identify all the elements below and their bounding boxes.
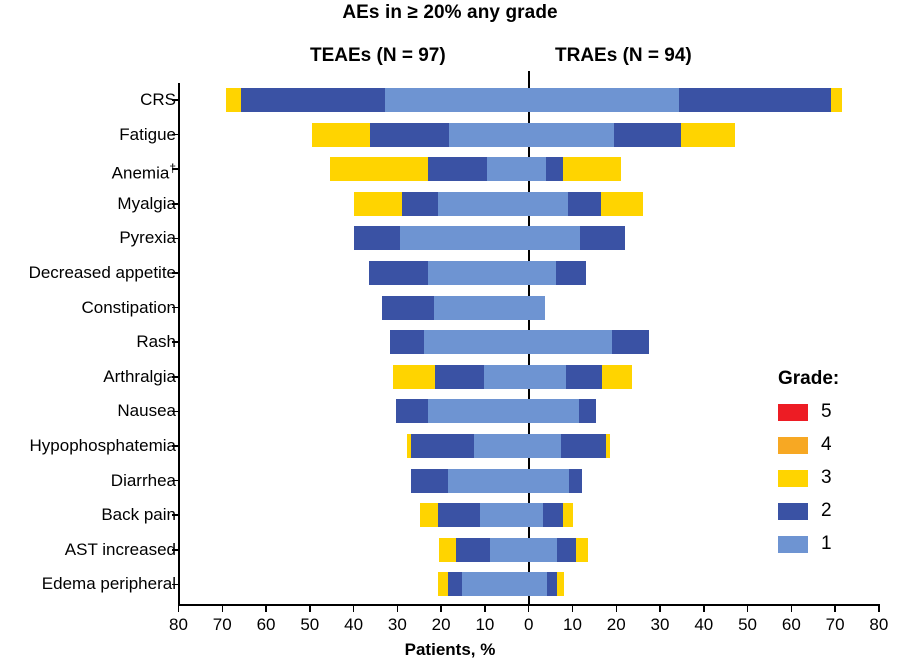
bar-segment-trae-grade1 xyxy=(529,434,561,458)
adverse-events-tornado-chart: AEs in ≥ 20% any grade TEAEs (N = 97) TR… xyxy=(0,0,900,663)
x-axis-tick xyxy=(878,604,880,612)
bar-segment-teae-grade3 xyxy=(439,538,457,562)
bar-segment-trae-grade2 xyxy=(566,365,602,389)
bar-segment-trae-grade2 xyxy=(543,503,563,527)
bar-segment-trae-grade2 xyxy=(561,434,606,458)
bar-segment-teae-grade1 xyxy=(385,88,529,112)
bar-segment-trae-grade1 xyxy=(529,88,679,112)
bar-row xyxy=(0,261,900,285)
legend-swatch-grade-5 xyxy=(778,404,808,421)
bar-segment-trae-grade1 xyxy=(529,261,556,285)
bar-segment-teae-grade2 xyxy=(456,538,489,562)
x-axis-tick xyxy=(309,604,311,612)
x-axis-tick xyxy=(528,604,530,612)
bar-segment-teae-grade3 xyxy=(330,157,428,181)
bar-segment-teae-grade3 xyxy=(393,365,435,389)
bar-segment-teae-grade1 xyxy=(424,330,529,354)
x-axis-tick xyxy=(834,604,836,612)
bar-segment-teae-grade1 xyxy=(428,399,528,423)
bar-segment-teae-grade1 xyxy=(428,261,529,285)
legend-swatch-grade-2 xyxy=(778,503,808,520)
legend-item-grade-4: 4 xyxy=(778,432,839,458)
x-axis-tick-label: 40 xyxy=(334,615,374,635)
x-axis-tick-label: 60 xyxy=(771,615,811,635)
bar-segment-trae-grade1 xyxy=(529,192,568,216)
legend: Grade: 54321 xyxy=(778,368,839,564)
bar-segment-trae-grade3 xyxy=(601,192,643,216)
x-axis-tick xyxy=(791,604,793,612)
bar-segment-teae-grade3 xyxy=(407,434,412,458)
bar-segment-trae-grade1 xyxy=(529,538,557,562)
bar-segment-trae-grade1 xyxy=(529,365,566,389)
bar-segment-teae-grade2 xyxy=(354,226,399,250)
bar-segment-teae-grade3 xyxy=(438,572,448,596)
bar-segment-teae-grade2 xyxy=(411,434,474,458)
bar-row xyxy=(0,399,900,423)
bar-segment-teae-grade1 xyxy=(449,123,529,147)
bar-row xyxy=(0,192,900,216)
bar-segment-teae-grade2 xyxy=(390,330,423,354)
bar-segment-trae-grade1 xyxy=(529,572,547,596)
bar-segment-teae-grade2 xyxy=(241,88,385,112)
bar-segment-teae-grade2 xyxy=(396,399,429,423)
bar-segment-trae-grade3 xyxy=(576,538,588,562)
bar-segment-trae-grade2 xyxy=(547,572,557,596)
bar-segment-trae-grade2 xyxy=(614,123,681,147)
x-axis-tick-label: 50 xyxy=(290,615,330,635)
bar-segment-teae-grade2 xyxy=(438,503,480,527)
bar-segment-trae-grade2 xyxy=(546,157,563,181)
bar-segment-teae-grade3 xyxy=(312,123,370,147)
bar-segment-trae-grade2 xyxy=(612,330,649,354)
x-axis-tick xyxy=(484,604,486,612)
x-axis-tick xyxy=(572,604,574,612)
legend-label-grade-1: 1 xyxy=(821,533,832,555)
x-axis-tick-label: 70 xyxy=(202,615,242,635)
x-axis-tick xyxy=(659,604,661,612)
bar-segment-trae-grade2 xyxy=(580,226,625,250)
x-axis-tick xyxy=(747,604,749,612)
bar-segment-teae-grade1 xyxy=(480,503,529,527)
bar-segment-trae-grade1 xyxy=(529,399,579,423)
x-axis-tick xyxy=(440,604,442,612)
bar-segment-teae-grade2 xyxy=(428,157,487,181)
bar-segment-teae-grade1 xyxy=(434,296,529,320)
bar-row xyxy=(0,538,900,562)
bar-segment-teae-grade2 xyxy=(382,296,433,320)
bar-segment-teae-grade1 xyxy=(474,434,528,458)
legend-label-grade-4: 4 xyxy=(821,434,832,456)
x-axis-tick xyxy=(222,604,224,612)
x-axis-tick-label: 20 xyxy=(596,615,636,635)
bar-row xyxy=(0,434,900,458)
bar-row xyxy=(0,123,900,147)
bar-segment-trae-grade3 xyxy=(602,365,632,389)
bar-segment-teae-grade1 xyxy=(400,226,529,250)
bar-segment-teae-grade3 xyxy=(354,192,401,216)
x-axis-tick xyxy=(265,604,267,612)
bar-segment-trae-grade1 xyxy=(529,123,614,147)
bar-row xyxy=(0,296,900,320)
bar-segment-trae-grade2 xyxy=(556,261,586,285)
x-axis-tick-label: 30 xyxy=(377,615,417,635)
x-axis-tick-label: 80 xyxy=(859,615,899,635)
bar-row xyxy=(0,226,900,250)
bar-segment-teae-grade2 xyxy=(370,123,449,147)
bar-segment-teae-grade2 xyxy=(435,365,484,389)
legend-title: Grade: xyxy=(778,368,839,390)
bar-segment-teae-grade1 xyxy=(487,157,529,181)
bar-segment-teae-grade1 xyxy=(462,572,529,596)
legend-label-grade-5: 5 xyxy=(821,401,832,423)
plot-area: CRSFatigueAnemia†MyalgiaPyrexiaDecreased… xyxy=(0,0,900,663)
x-axis-tick-label: 70 xyxy=(815,615,855,635)
x-axis-tick-label: 10 xyxy=(552,615,592,635)
bar-segment-teae-grade1 xyxy=(438,192,529,216)
x-axis-tick-label: 50 xyxy=(728,615,768,635)
x-axis-tick xyxy=(353,604,355,612)
x-axis-tick xyxy=(616,604,618,612)
x-axis-tick-label: 80 xyxy=(159,615,199,635)
legend-label-grade-2: 2 xyxy=(821,500,832,522)
bar-segment-teae-grade1 xyxy=(490,538,529,562)
legend-item-grade-5: 5 xyxy=(778,399,839,425)
bar-segment-teae-grade2 xyxy=(411,469,448,493)
bar-segment-trae-grade3 xyxy=(606,434,610,458)
bar-segment-trae-grade1 xyxy=(529,157,546,181)
bar-segment-trae-grade2 xyxy=(569,469,582,493)
bar-segment-teae-grade3 xyxy=(420,503,438,527)
legend-swatch-grade-4 xyxy=(778,437,808,454)
legend-item-grade-3: 3 xyxy=(778,465,839,491)
bar-segment-teae-grade1 xyxy=(448,469,529,493)
bar-segment-teae-grade2 xyxy=(402,192,438,216)
x-axis-tick xyxy=(703,604,705,612)
bar-segment-trae-grade3 xyxy=(681,123,735,147)
x-axis-tick-label: 40 xyxy=(684,615,724,635)
bar-segment-trae-grade2 xyxy=(557,538,576,562)
bar-segment-trae-grade1 xyxy=(529,503,543,527)
bar-segment-trae-grade2 xyxy=(579,399,596,423)
x-axis-title: Patients, % xyxy=(0,640,900,660)
bar-row xyxy=(0,469,900,493)
bar-segment-teae-grade3 xyxy=(226,88,241,112)
bar-segment-teae-grade2 xyxy=(448,572,462,596)
x-axis-tick xyxy=(178,604,180,612)
x-axis-tick-label: 60 xyxy=(246,615,286,635)
bar-row xyxy=(0,572,900,596)
x-axis-tick-label: 10 xyxy=(465,615,505,635)
x-axis-tick-label: 0 xyxy=(509,615,549,635)
legend-items: 54321 xyxy=(778,399,839,557)
x-axis-tick-label: 20 xyxy=(421,615,461,635)
bar-segment-trae-grade3 xyxy=(557,572,564,596)
bar-segment-trae-grade1 xyxy=(529,469,569,493)
bar-segment-trae-grade2 xyxy=(568,192,601,216)
legend-swatch-grade-3 xyxy=(778,470,808,487)
legend-item-grade-1: 1 xyxy=(778,531,839,557)
legend-swatch-grade-1 xyxy=(778,536,808,553)
bar-row xyxy=(0,503,900,527)
bar-segment-trae-grade3 xyxy=(563,157,621,181)
x-axis-tick xyxy=(397,604,399,612)
bar-segment-teae-grade1 xyxy=(484,365,529,389)
bar-segment-trae-grade3 xyxy=(563,503,573,527)
legend-item-grade-2: 2 xyxy=(778,498,839,524)
x-axis-tick-label: 30 xyxy=(640,615,680,635)
bar-row xyxy=(0,88,900,112)
bar-segment-trae-grade2 xyxy=(679,88,831,112)
bar-row xyxy=(0,330,900,354)
bar-segment-trae-grade1 xyxy=(529,296,545,320)
bar-segment-teae-grade2 xyxy=(369,261,427,285)
bar-segment-trae-grade3 xyxy=(831,88,842,112)
bar-row xyxy=(0,157,900,181)
bar-segment-trae-grade1 xyxy=(529,330,612,354)
bar-segment-trae-grade1 xyxy=(529,226,580,250)
legend-label-grade-3: 3 xyxy=(821,467,832,489)
bar-row xyxy=(0,365,900,389)
